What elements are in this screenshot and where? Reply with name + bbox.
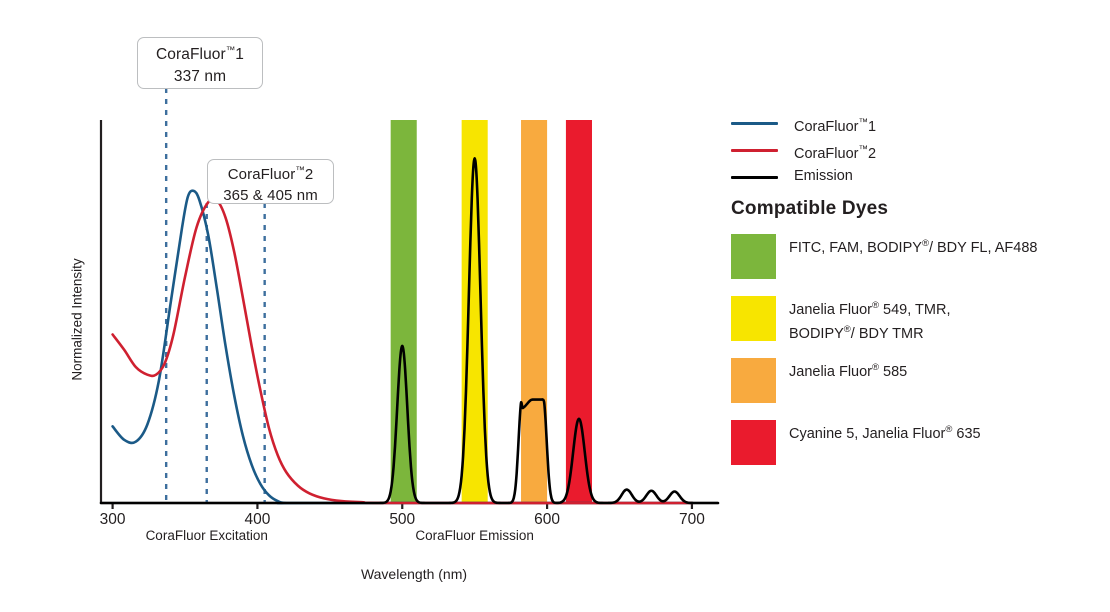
emission-band-3	[566, 120, 592, 503]
chart-page: CoraFluor™1 337 nm CoraFluor™2 365 & 405…	[0, 0, 1110, 612]
dye-item-1: Janelia Fluor® 549, TMR,BODIPY®/ BDY TMR	[731, 296, 1106, 341]
dye-color-swatch	[731, 420, 776, 465]
dye-color-swatch	[731, 358, 776, 403]
annotation-corafluor1-value: 337 nm	[138, 66, 262, 87]
annotation-corafluor1: CoraFluor™1 337 nm	[137, 37, 263, 89]
legend-item-1: CoraFluor™2	[731, 137, 1101, 164]
dye-label: Janelia Fluor® 585	[789, 358, 1104, 382]
emission-region-label: CoraFluor Emission	[355, 528, 595, 543]
x-tick-label-500: 500	[372, 511, 432, 529]
series-legend: CoraFluor™1CoraFluor™2Emission	[731, 110, 1101, 191]
legend-line-swatch	[731, 122, 778, 125]
annotation-corafluor1-title: CoraFluor™1	[138, 44, 262, 66]
dye-label: Janelia Fluor® 549, TMR,BODIPY®/ BDY TMR	[789, 296, 1104, 344]
dye-item-2: Janelia Fluor® 585	[731, 358, 1106, 403]
x-axis-label: Wavelength (nm)	[294, 566, 534, 582]
excitation-region-label: CoraFluor Excitation	[87, 528, 327, 543]
compatible-dyes-title: Compatible Dyes	[731, 198, 888, 220]
x-tick-label-600: 600	[517, 511, 577, 529]
x-tick-label-700: 700	[662, 511, 722, 529]
legend-item-2: Emission	[731, 164, 1101, 191]
legend-line-swatch	[731, 149, 778, 152]
annotation-corafluor2-title: CoraFluor™2	[208, 164, 333, 186]
dye-color-swatch	[731, 296, 776, 341]
emission-band-2	[521, 120, 547, 503]
legend-item-0: CoraFluor™1	[731, 110, 1101, 137]
x-tick-label-300: 300	[83, 511, 143, 529]
y-axis-label: Normalized Intensity	[70, 220, 85, 420]
emission-band-1	[462, 120, 488, 503]
legend-label: CoraFluor™2	[794, 137, 876, 167]
legend-label: CoraFluor™1	[794, 110, 876, 140]
dye-label: FITC, FAM, BODIPY®/ BDY FL, AF488	[789, 234, 1104, 258]
dye-item-3: Cyanine 5, Janelia Fluor® 635	[731, 420, 1106, 465]
legend-line-swatch	[731, 176, 778, 179]
legend-label: Emission	[794, 164, 853, 189]
x-tick-label-400: 400	[227, 511, 287, 529]
compatible-dyes-list: FITC, FAM, BODIPY®/ BDY FL, AF488Janelia…	[731, 234, 1106, 482]
annotation-corafluor2-value: 365 & 405 nm	[208, 186, 333, 207]
dye-color-swatch	[731, 234, 776, 279]
annotation-corafluor2: CoraFluor™2 365 & 405 nm	[207, 159, 334, 204]
dye-item-0: FITC, FAM, BODIPY®/ BDY FL, AF488	[731, 234, 1106, 279]
dye-label: Cyanine 5, Janelia Fluor® 635	[789, 420, 1104, 444]
